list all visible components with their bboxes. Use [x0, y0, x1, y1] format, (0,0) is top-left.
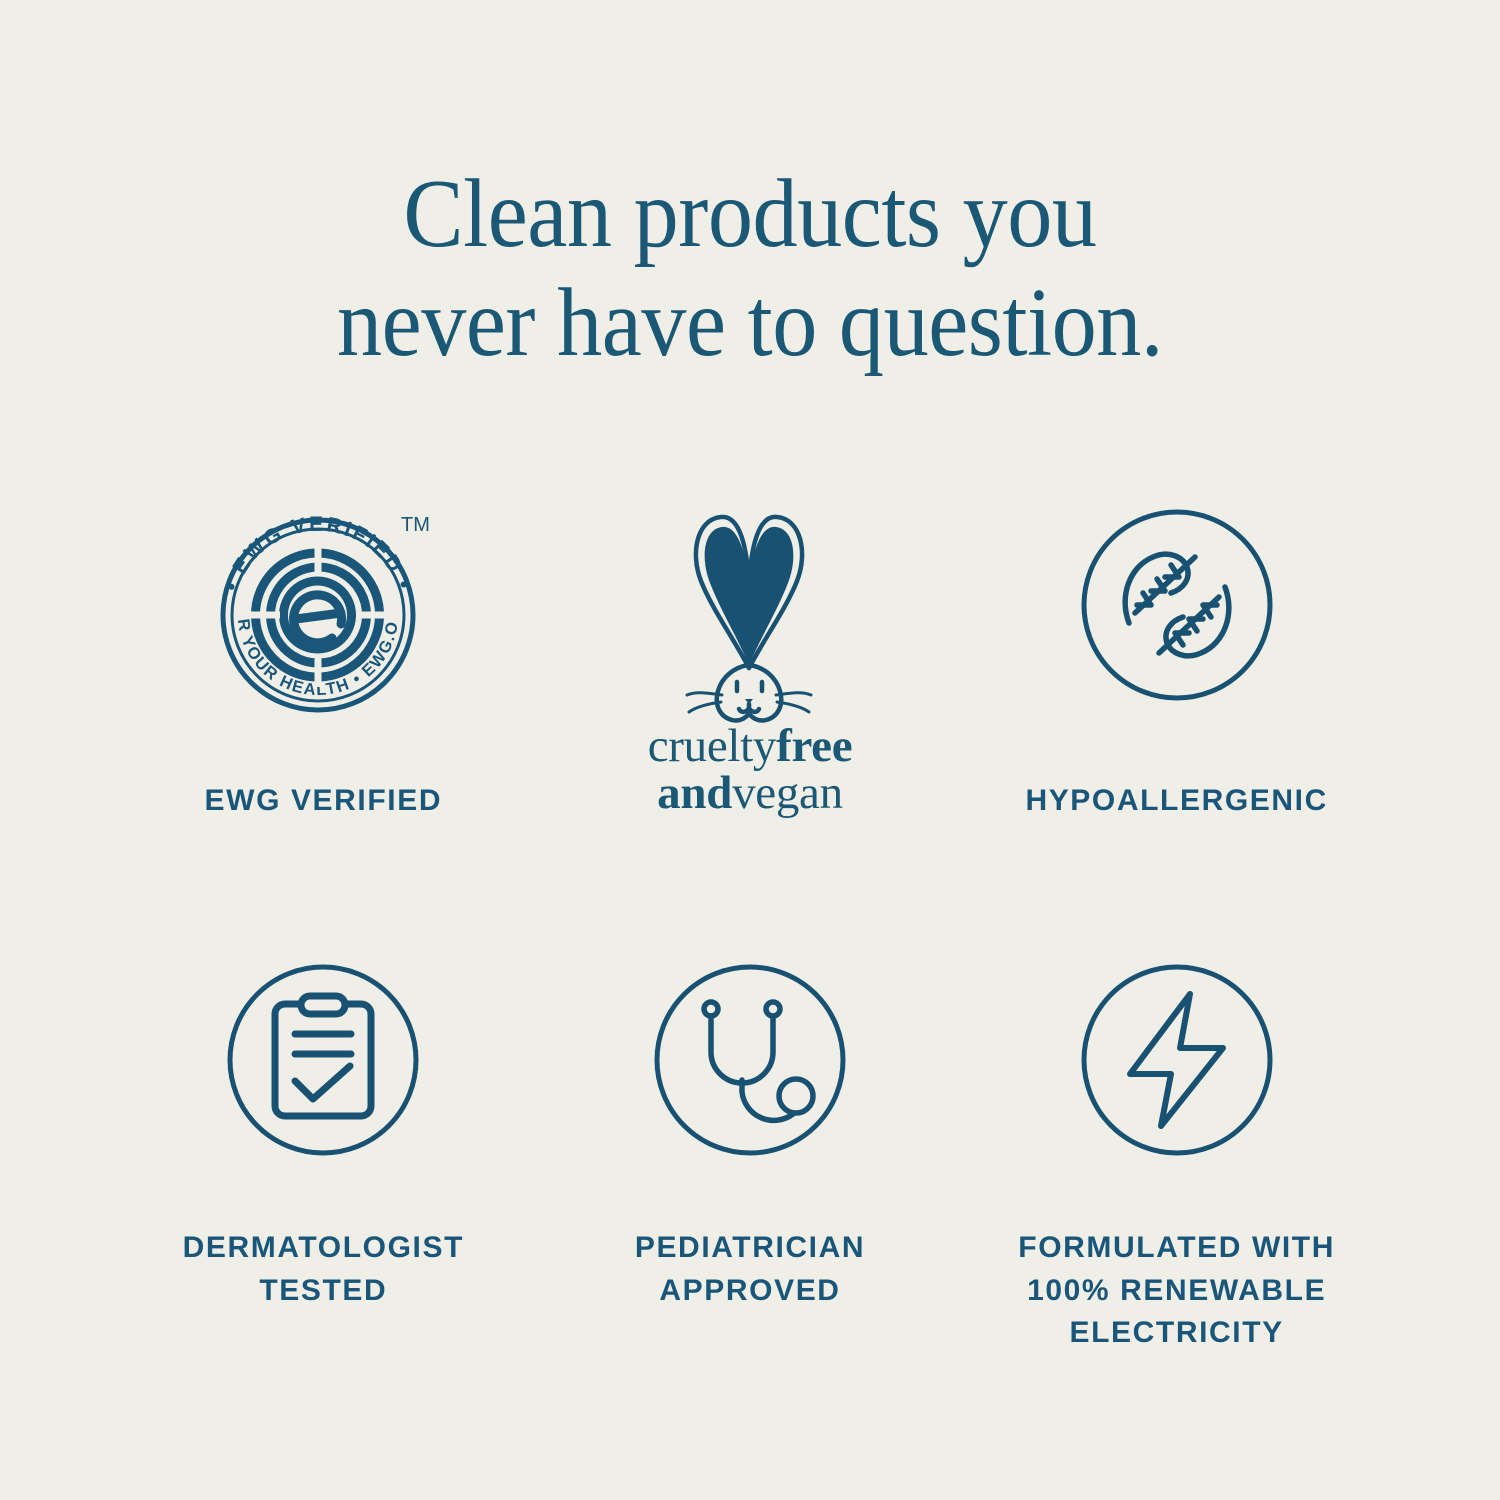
wordmark-cruelty: cruelty — [648, 720, 776, 772]
cruelty-free-wordmark: crueltyfree andvegan — [648, 723, 853, 817]
trademark-mark: TM — [401, 514, 430, 536]
wordmark-vegan: vegan — [732, 767, 843, 819]
page-title-line-2: never have to question. — [53, 269, 1448, 378]
badge-dermatologist-tested: DERMATOLOGIST TESTED — [110, 935, 537, 1355]
two-feathers-circle-icon — [1077, 505, 1277, 740]
ewg-verified-seal-icon: • EWG VERIFIED • FOR YOUR HEALTH • EWG.O… — [208, 505, 438, 740]
badge-cruelty-free-and-vegan: crueltyfree andvegan — [537, 505, 964, 935]
badge-ewg-verified: • EWG VERIFIED • FOR YOUR HEALTH • EWG.O… — [110, 505, 537, 935]
wordmark-and: and — [657, 767, 732, 819]
lightning-bolt-circle-icon — [1077, 935, 1277, 1185]
cruelty-free-wordmark-line-2: andvegan — [648, 770, 853, 817]
page-title: Clean products you never have to questio… — [53, 160, 1448, 377]
stethoscope-circle-icon — [650, 935, 850, 1185]
badge-label-hypoallergenic: HYPOALLERGENIC — [1025, 780, 1327, 823]
cruelty-free-wordmark-line-1: crueltyfree — [648, 723, 853, 770]
badge-renewable-electricity: FORMULATED WITH 100% RENEWABLE ELECTRICI… — [963, 935, 1390, 1355]
bunny-heart-ears-icon — [642, 505, 857, 727]
badge-label-dermatologist-tested: DERMATOLOGIST TESTED — [183, 1227, 464, 1312]
page-title-line-1: Clean products you — [53, 160, 1448, 269]
wordmark-free: free — [776, 720, 852, 772]
certification-badge-grid: • EWG VERIFIED • FOR YOUR HEALTH • EWG.O… — [110, 505, 1390, 1355]
badge-pediatrician-approved: PEDIATRICIAN APPROVED — [537, 935, 964, 1355]
clipboard-check-circle-icon — [223, 935, 423, 1185]
badge-hypoallergenic: HYPOALLERGENIC — [963, 505, 1390, 935]
badge-label-ewg-verified: EWG VERIFIED — [205, 780, 443, 823]
badge-label-renewable-electricity: FORMULATED WITH 100% RENEWABLE ELECTRICI… — [1018, 1227, 1335, 1355]
badge-label-pediatrician-approved: PEDIATRICIAN APPROVED — [635, 1227, 865, 1312]
marketing-claims-panel: Clean products you never have to questio… — [0, 0, 1500, 1500]
